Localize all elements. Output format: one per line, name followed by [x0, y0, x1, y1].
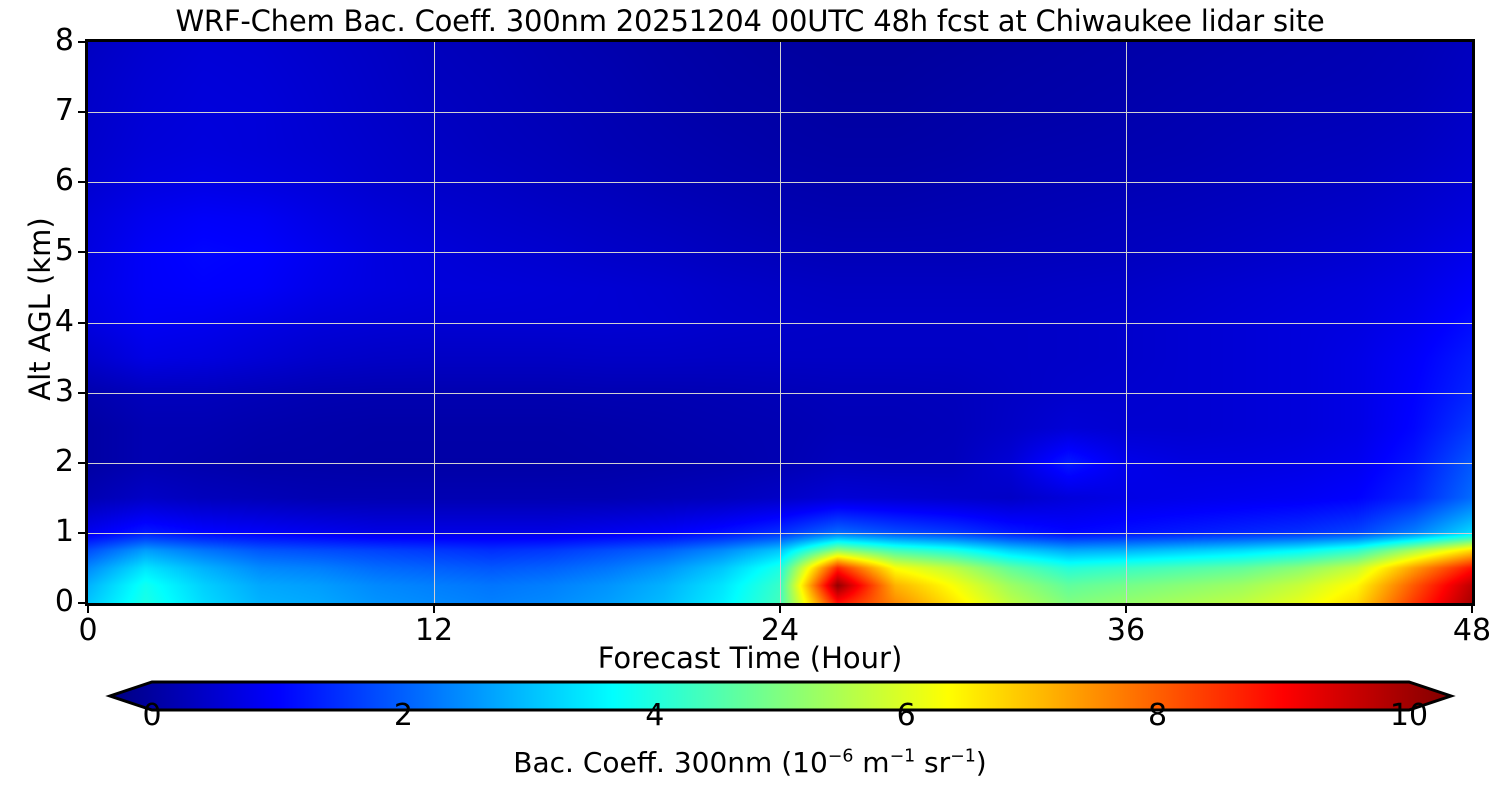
chart-title: WRF-Chem Bac. Coeff. 300nm 20251204 00UT… [0, 4, 1500, 38]
x-tick-mark [87, 603, 89, 613]
y-tick-label: 0 [14, 587, 74, 617]
y-tick-label: 8 [14, 26, 74, 56]
y-tick-mark [78, 462, 88, 464]
figure-root: WRF-Chem Bac. Coeff. 300nm 20251204 00UT… [0, 0, 1500, 800]
y-tick-mark [78, 111, 88, 113]
y-tick-mark [78, 322, 88, 324]
y-tick-mark [78, 251, 88, 253]
plot-axes [85, 39, 1475, 606]
colorbar-label-mid: m [853, 746, 889, 779]
colorbar-gradient [0, 676, 1500, 716]
colorbar-label-end: ) [976, 746, 987, 779]
y-axis-label: Alt AGL (km) [23, 99, 57, 519]
colorbar-tick-label: 0 [107, 701, 197, 731]
x-tick-mark [433, 603, 435, 613]
x-tick-mark [779, 603, 781, 613]
colorbar-tick-label: 8 [1113, 701, 1203, 731]
x-tick-mark [1125, 603, 1127, 613]
y-tick-label: 1 [14, 517, 74, 547]
colorbar-label-exp2: −1 [890, 747, 916, 767]
colorbar-label: Bac. Coeff. 300nm (10−6 m−1 sr−1) [0, 746, 1500, 779]
colorbar: 0246810 Bac. Coeff. 300nm (10−6 m−1 sr−1… [0, 676, 1500, 800]
colorbar-label-exp3: −1 [950, 747, 976, 767]
colorbar-label-mid2: sr [915, 746, 950, 779]
colorbar-tick-label: 2 [358, 701, 448, 731]
colorbar-tick-label: 4 [610, 701, 700, 731]
y-tick-mark [78, 41, 88, 43]
colorbar-label-exp1: −6 [828, 747, 854, 767]
heatmap-canvas [88, 42, 1472, 603]
colorbar-label-main: Bac. Coeff. 300nm (10 [513, 746, 827, 779]
y-tick-mark [78, 181, 88, 183]
y-tick-mark [78, 532, 88, 534]
colorbar-tick-label: 6 [861, 701, 951, 731]
x-tick-mark [1471, 603, 1473, 613]
y-tick-mark [78, 392, 88, 394]
colorbar-tick-label: 10 [1364, 701, 1454, 731]
x-axis-label: Forecast Time (Hour) [0, 641, 1500, 675]
